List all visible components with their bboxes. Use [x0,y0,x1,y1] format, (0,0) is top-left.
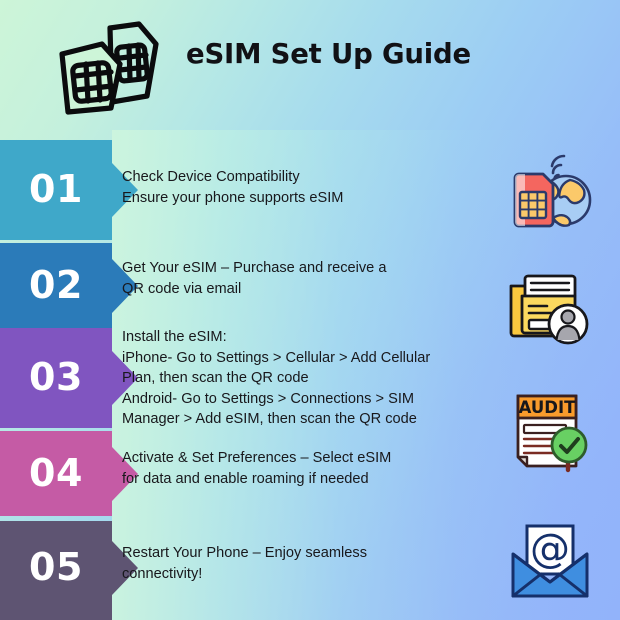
step-text-01: Check Device Compatibility Ensure your p… [122,167,452,208]
header: eSIM Set Up Guide [0,0,620,130]
step-number-02: 02 [0,266,112,304]
email-envelope-at-icon: @ [508,520,592,604]
document-folder-user-icon [508,262,592,346]
audit-document-check-icon: AUDIT [508,390,592,474]
step-number-04: 04 [0,454,112,492]
step-number-05: 05 [0,548,112,586]
page-title: eSIM Set Up Guide [186,38,586,70]
step-text-02: Get Your eSIM – Purchase and receive a Q… [122,258,452,299]
step-text-03: Install the eSIM: iPhone- Go to Settings… [122,327,462,430]
step-number-01: 01 [0,170,112,208]
sim-card-globe-signal-icon [508,152,592,236]
step-text-05: Restart Your Phone – Enjoy seamless conn… [122,543,452,584]
audit-label: AUDIT [519,398,576,417]
dual-sim-cards-icon [44,20,162,115]
step-text-04: Activate & Set Preferences – Select eSIM… [122,448,452,489]
step-number-03: 03 [0,358,112,396]
infographic-canvas: eSIM Set Up Guide 01 Check Device Compat… [0,0,620,620]
